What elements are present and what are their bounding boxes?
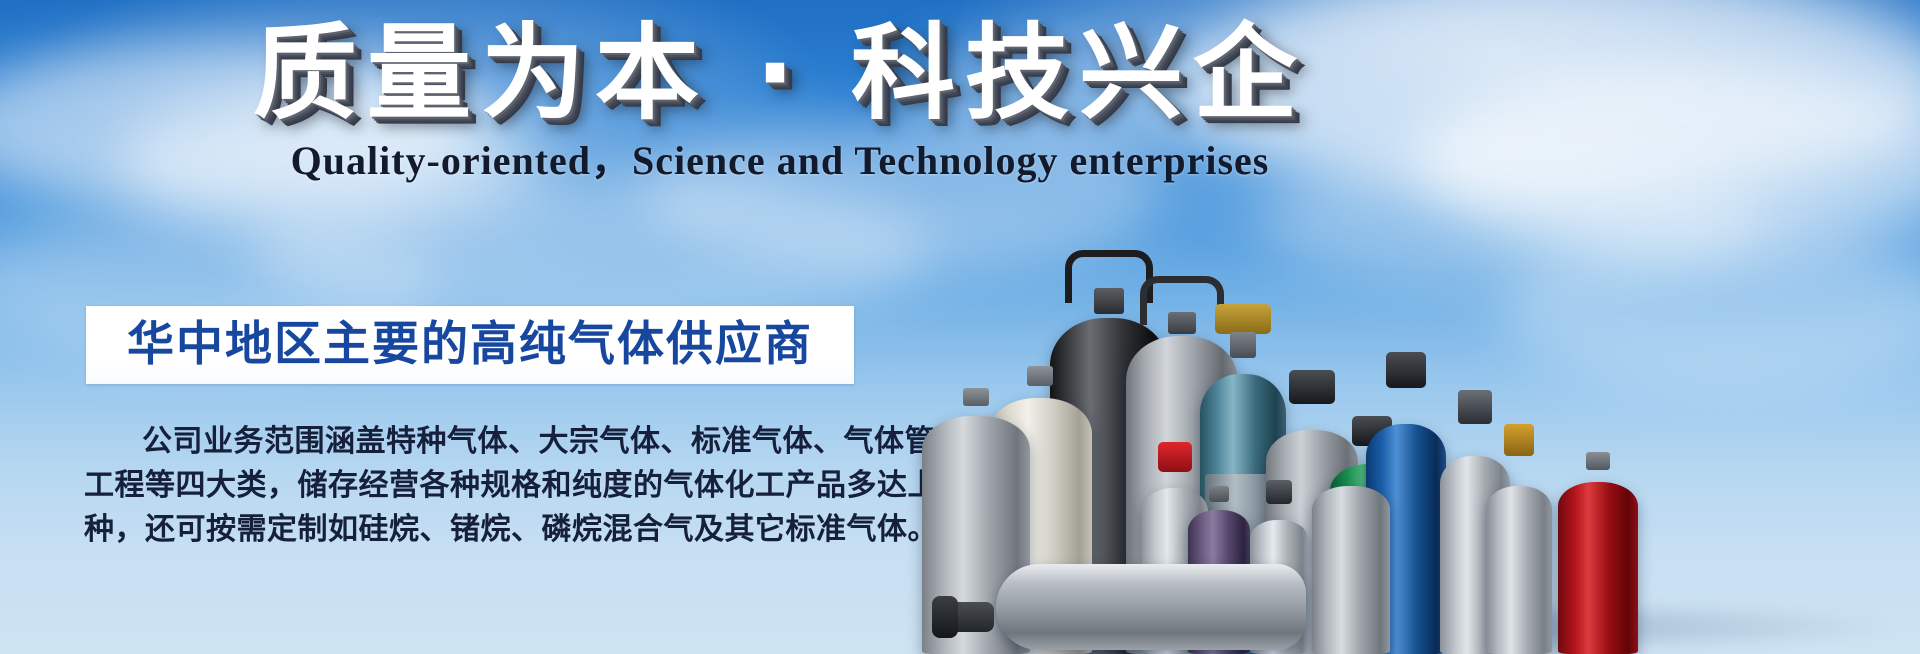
body-copy-line-1: 公司业务范围涵盖特种气体、大宗气体、标准气体、气体管道 bbox=[84, 420, 860, 464]
brass-valve-cylinder bbox=[1486, 458, 1552, 654]
slogan-box: 华中地区主要的高纯气体供应商 bbox=[86, 306, 854, 384]
cylinder-knob bbox=[932, 596, 958, 638]
cylinder-valve bbox=[1289, 370, 1335, 404]
cylinder-neck bbox=[1027, 366, 1053, 386]
cylinder-valve bbox=[1386, 352, 1426, 388]
cylinder-body bbox=[996, 564, 1306, 650]
cylinder-neck bbox=[1586, 452, 1610, 470]
gas-cylinder-group bbox=[930, 150, 1920, 654]
cylinder-neck bbox=[1094, 288, 1124, 314]
cylinder-valve bbox=[1458, 390, 1492, 424]
cylinder-body bbox=[1558, 482, 1638, 654]
banner-headline: 质量为本 · 科技兴企 bbox=[0, 14, 1560, 132]
promo-banner: 质量为本 · 科技兴企 Quality-oriented，Science and… bbox=[0, 0, 1920, 654]
slogan-text: 华中地区主要的高纯气体供应商 bbox=[127, 317, 813, 373]
cylinder-valve bbox=[1215, 304, 1271, 334]
cylinder-valve bbox=[1504, 424, 1534, 456]
body-copy-line-2: 工程等四大类，储存经营各种规格和纯度的气体化工产品多达上百 bbox=[84, 464, 860, 508]
cylinder-neck bbox=[1168, 312, 1196, 334]
cylinder-body bbox=[1486, 486, 1552, 654]
cylinder-neck bbox=[1230, 332, 1256, 358]
body-copy: 公司业务范围涵盖特种气体、大宗气体、标准气体、气体管道 工程等四大类，储存经营各… bbox=[84, 420, 860, 552]
cylinder-valve bbox=[1266, 480, 1292, 504]
cylinder-valve bbox=[1158, 442, 1192, 472]
grey-front-cylinder bbox=[1312, 486, 1390, 654]
cylinder-neck bbox=[963, 388, 989, 406]
lying-grey-cylinder bbox=[986, 562, 1306, 654]
red-aluminum-cylinder bbox=[1558, 466, 1638, 654]
cylinder-neck bbox=[1209, 486, 1229, 502]
cylinder-body bbox=[1312, 486, 1390, 654]
body-copy-line-3: 种，还可按需定制如硅烷、锗烷、磷烷混合气及其它标准气体。 bbox=[84, 508, 860, 552]
